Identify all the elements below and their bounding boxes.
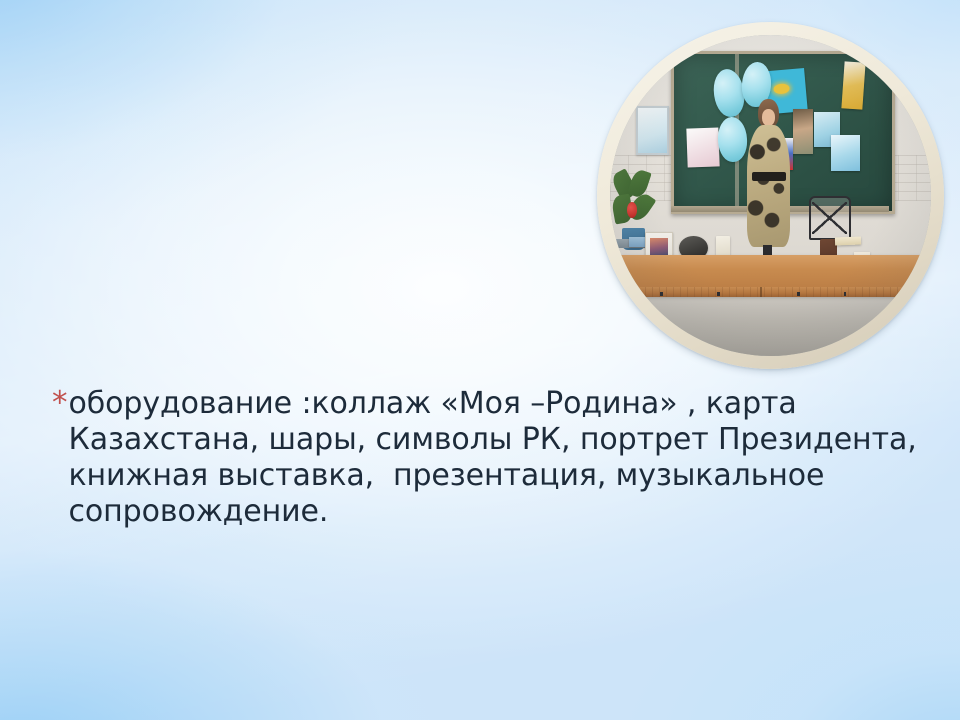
- desk-photo-image: [650, 238, 667, 257]
- desk-leg-4: [844, 292, 847, 296]
- person-dress: [747, 125, 790, 247]
- desk-leg-3: [797, 292, 800, 296]
- poster-map: [686, 128, 719, 168]
- wall-picture-frame: [636, 106, 669, 155]
- equipment-body-text: оборудование :коллаж «Моя –Родина» , кар…: [69, 386, 925, 531]
- poster-portrait: [793, 109, 813, 154]
- poster-photo: [831, 135, 860, 172]
- classroom-floor: [610, 295, 931, 356]
- desk-leg-1: [660, 292, 663, 296]
- poster-emblem: [841, 62, 865, 110]
- classroom-scene: [610, 35, 931, 356]
- desk-leg-2: [717, 292, 720, 296]
- slide-canvas: * оборудование :коллаж «Моя –Родина» , к…: [0, 0, 960, 720]
- classroom-photo: [610, 35, 931, 356]
- flag-sun-icon: [773, 83, 790, 95]
- standing-person: [746, 99, 791, 269]
- chair-cross-brace: [812, 202, 847, 234]
- person-face: [762, 109, 775, 126]
- desk-panel-seam: [760, 287, 762, 297]
- teacher-desk: [610, 255, 931, 295]
- bullet-paragraph: * оборудование :коллаж «Моя –Родина» , к…: [52, 386, 924, 531]
- asterisk-bullet-icon: *: [52, 388, 68, 419]
- desk-paper-1: [835, 237, 861, 246]
- person-belt: [752, 172, 786, 181]
- desk-front-panel: [624, 287, 904, 297]
- classroom-photo-frame: [597, 22, 944, 369]
